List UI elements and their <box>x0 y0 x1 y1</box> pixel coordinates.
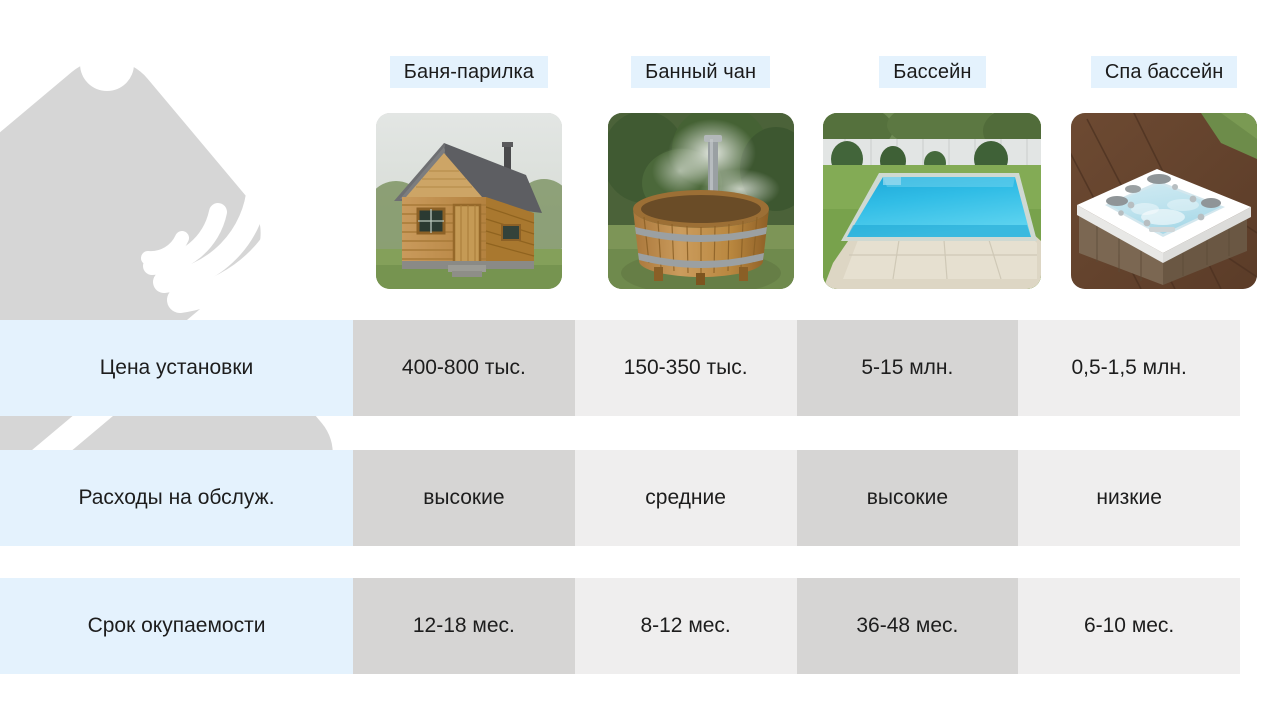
wooden-hot-tub-photo <box>608 113 794 289</box>
table-row: Срок окупаемости 12-18 мес. 8-12 мес. 36… <box>0 578 1240 674</box>
cell-value: 400-800 тыс. <box>353 320 575 416</box>
cell-value: 36-48 мес. <box>797 578 1019 674</box>
row-label: Цена установки <box>0 320 353 416</box>
cell-value: 150-350 тыс. <box>575 320 797 416</box>
column-header-label: Спа бассейн <box>1091 56 1238 88</box>
header-cell-spa: Спа бассейн <box>1048 56 1280 88</box>
cell-value: высокие <box>353 450 575 546</box>
swimming-pool-photo <box>823 113 1041 289</box>
row-label: Расходы на обслуж. <box>0 450 353 546</box>
comparison-table: Баня-парилка Банный чан Бассейн Спа басс… <box>0 0 1280 724</box>
header-cell-pool: Бассейн <box>817 56 1049 88</box>
cell-value: 6-10 мес. <box>1018 578 1240 674</box>
table-row: Расходы на обслуж. высокие средние высок… <box>0 450 1240 546</box>
spa-hot-tub-photo <box>1071 113 1257 289</box>
log-sauna-cabin-photo <box>376 113 562 289</box>
cell-value: высокие <box>797 450 1019 546</box>
cell-value: 5-15 млн. <box>797 320 1019 416</box>
image-cell-pool <box>817 112 1049 290</box>
cell-value: 8-12 мес. <box>575 578 797 674</box>
row-label: Срок окупаемости <box>0 578 353 674</box>
table-row: Цена установки 400-800 тыс. 150-350 тыс.… <box>0 320 1240 416</box>
table-header-row: Баня-парилка Банный чан Бассейн Спа басс… <box>0 56 1280 88</box>
header-cell-banya: Баня-парилка <box>353 56 585 88</box>
header-cell-chan: Банный чан <box>585 56 817 88</box>
image-corner-spacer <box>0 112 353 290</box>
cell-value: средние <box>575 450 797 546</box>
table-image-row <box>0 112 1280 290</box>
column-header-label: Баня-парилка <box>390 56 548 88</box>
header-corner-spacer <box>0 56 353 88</box>
image-cell-banya <box>353 112 585 290</box>
column-header-label: Бассейн <box>879 56 985 88</box>
image-cell-chan <box>585 112 817 290</box>
cell-value: 0,5-1,5 млн. <box>1018 320 1240 416</box>
column-header-label: Банный чан <box>631 56 770 88</box>
cell-value: низкие <box>1018 450 1240 546</box>
image-cell-spa <box>1048 112 1280 290</box>
cell-value: 12-18 мес. <box>353 578 575 674</box>
